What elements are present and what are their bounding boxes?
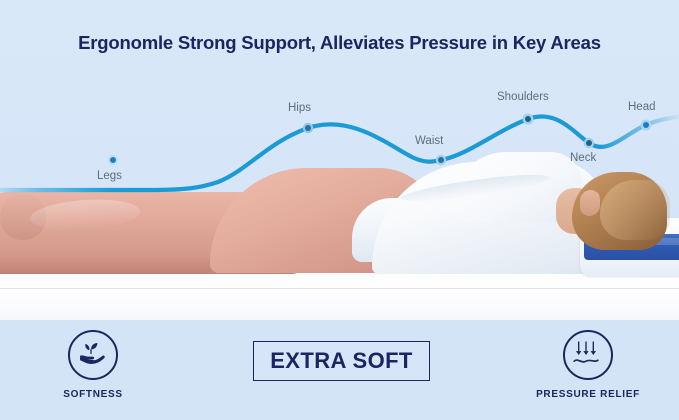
subject-hair — [600, 180, 670, 240]
marker-neck-inner — [586, 140, 592, 146]
badge-softness: SOFTNESS — [18, 330, 168, 400]
curve-label-shoulders: Shoulders — [497, 91, 549, 103]
curve-label-legs: Legs — [97, 170, 122, 182]
hand-with-leaves-icon — [70, 332, 112, 374]
marker-head-outer — [641, 120, 652, 131]
curve-label-neck: Neck — [570, 152, 596, 164]
marker-hips-inner — [305, 125, 311, 131]
curve-label-head: Head — [628, 101, 656, 113]
page-title: Ergonomle Strong Support, Alleviates Pre… — [0, 32, 679, 54]
extra-soft-label: EXTRA SOFT — [270, 348, 413, 374]
curve-label-hips: Hips — [288, 102, 311, 114]
marker-head-inner — [643, 122, 649, 128]
badge-pressure-relief: PRESSURE RELIEF — [513, 330, 663, 400]
badge-pressure-label: PRESSURE RELIEF — [513, 389, 663, 400]
marker-neck-outer — [584, 138, 594, 148]
marker-shoulders-outer — [523, 114, 534, 125]
curve-label-waist: Waist — [415, 135, 443, 147]
extra-soft-badge: EXTRA SOFT — [253, 341, 430, 381]
subject-ear — [580, 190, 600, 216]
downward-arrows-wave-icon — [565, 332, 607, 374]
badge-softness-label: SOFTNESS — [18, 389, 168, 400]
marker-hips-outer — [303, 123, 313, 133]
softness-icon-ring — [68, 330, 118, 380]
infographic-root: Ergonomle Strong Support, Alleviates Pre… — [0, 0, 679, 420]
pressure-icon-ring — [563, 330, 613, 380]
marker-shoulders-inner — [525, 116, 531, 122]
